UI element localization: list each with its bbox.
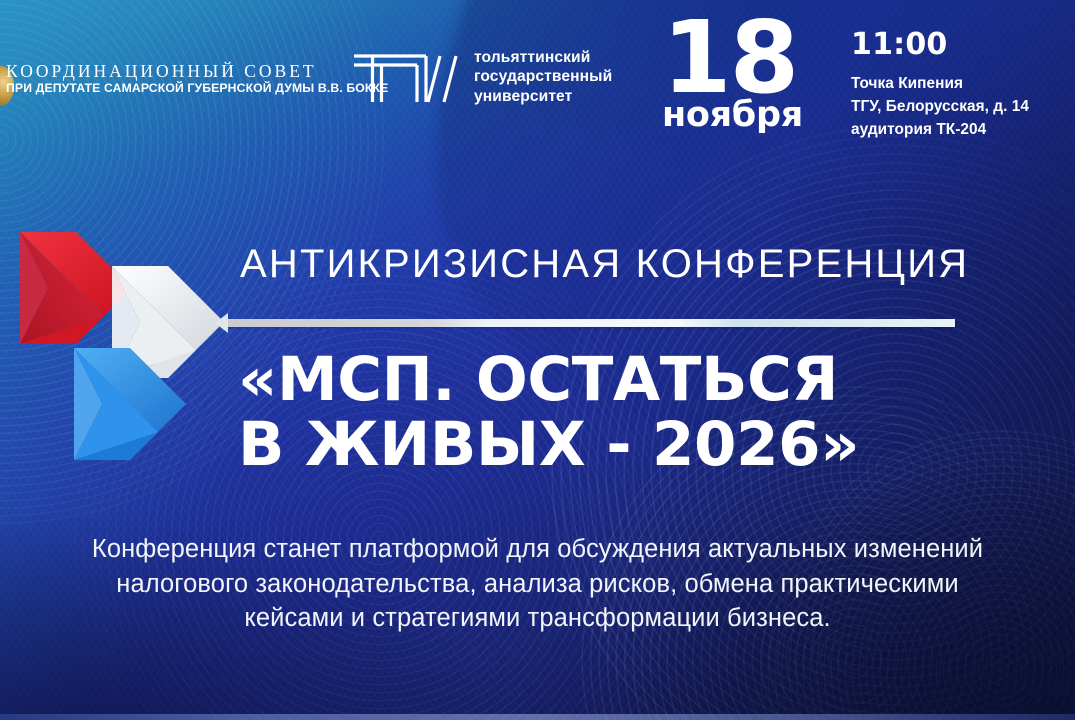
description-line-2: налогового законодательства, анализа рис… (0, 567, 1075, 602)
university-name-line3: университет (474, 87, 612, 106)
conference-eyebrow-title: АНТИКРИЗИСНАЯ КОНФЕРЕНЦИЯ (240, 243, 1000, 285)
university-logo: тольяттинский государственный университе… (352, 48, 612, 106)
venue-line-3: аудитория ТК-204 (851, 119, 1075, 142)
event-time: 11:00 (851, 30, 1075, 60)
tricolor-chevron-logo-icon (8, 222, 244, 478)
conference-description: Конференция станет платформой для обсужд… (0, 532, 1075, 636)
event-date: 18 ноября (662, 12, 842, 133)
headline-line-2: В ЖИВЫХ - 2026» (238, 413, 1038, 478)
bottom-accent-strip (0, 714, 1075, 720)
event-date-month: ноября (662, 98, 842, 133)
coordination-council-title: КООРДИНАЦИОННЫЙ СОВЕТ (6, 62, 326, 80)
conference-headline: «МСП. ОСТАТЬСЯ В ЖИВЫХ - 2026» (238, 348, 1038, 477)
coordination-council-subtitle: ПРИ ДЕПУТАТЕ САМАРСКОЙ ГУБЕРНСКОЙ ДУМЫ В… (6, 82, 326, 95)
description-line-3: кейсами и стратегиями трансформации бизн… (0, 601, 1075, 636)
headline-line-1: «МСП. ОСТАТЬСЯ (238, 344, 838, 415)
university-name-line1: тольяттинский (474, 48, 612, 67)
tgu-monogram-icon (352, 48, 460, 106)
event-date-day: 18 (662, 12, 842, 104)
title-divider-rule (228, 319, 955, 327)
venue-line-2: ТГУ, Белорусская, д. 14 (851, 96, 1075, 119)
university-name: тольяттинский государственный университе… (474, 48, 612, 105)
event-venue: 11:00 Точка Кипения ТГУ, Белорусская, д.… (851, 30, 1075, 141)
event-location: Точка Кипения ТГУ, Белорусская, д. 14 ау… (851, 73, 1075, 141)
description-line-1: Конференция станет платформой для обсужд… (0, 532, 1075, 567)
university-name-line2: государственный (474, 67, 612, 86)
venue-line-1: Точка Кипения (851, 73, 1075, 96)
conference-poster: КООРДИНАЦИОННЫЙ СОВЕТ ПРИ ДЕПУТАТЕ САМАР… (0, 0, 1075, 720)
poster-header: КООРДИНАЦИОННЫЙ СОВЕТ ПРИ ДЕПУТАТЕ САМАР… (0, 0, 1075, 175)
coordination-council-logo: КООРДИНАЦИОННЫЙ СОВЕТ ПРИ ДЕПУТАТЕ САМАР… (6, 62, 326, 95)
